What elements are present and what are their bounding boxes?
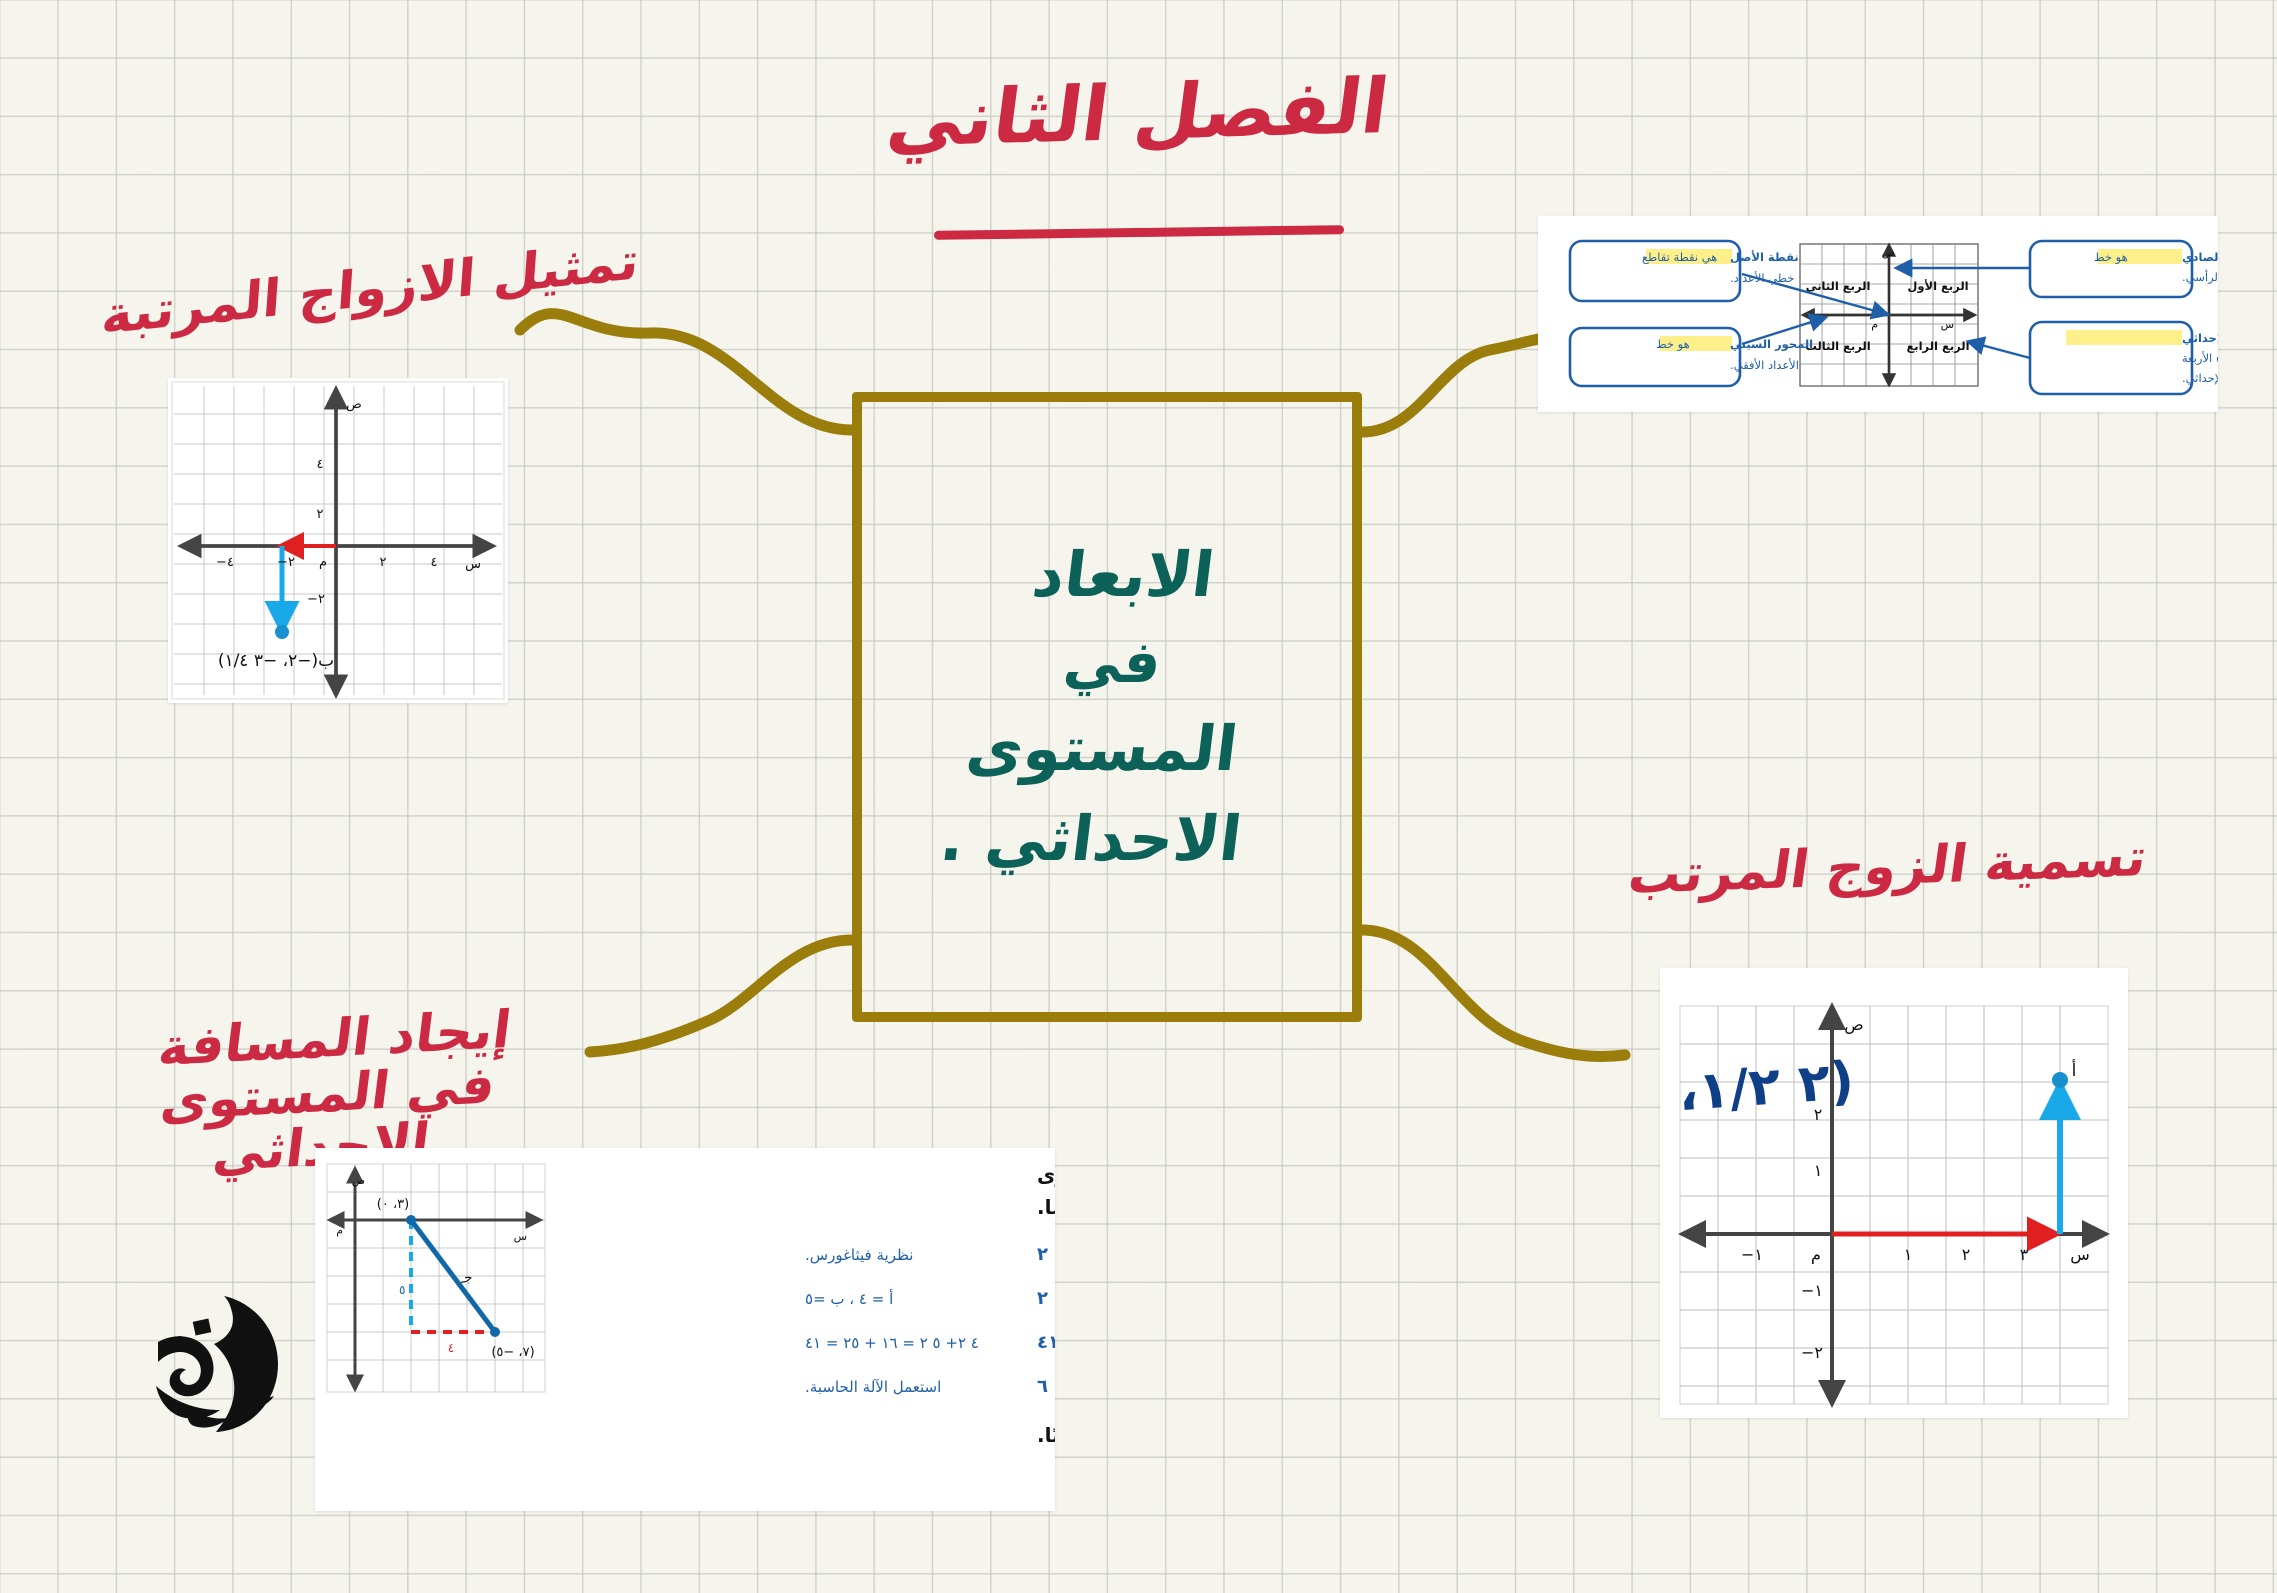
svg-text:١: ١ — [1814, 1161, 1823, 1180]
distance-graph-hypotenuse: جـ — [459, 1270, 474, 1287]
distance-graph-axis-x: س — [514, 1230, 527, 1243]
svg-text:هو خط: هو خط — [2094, 250, 2128, 265]
page-title-wrapper: الفصل الثاني — [0, 68, 2277, 157]
page-title-underline — [933, 225, 1343, 240]
central-line-1: الابعاد — [968, 530, 1279, 620]
distance-step-4-reason: استعمل الآلة الحاسبة. — [805, 1378, 941, 1396]
svg-text:هي الأجزاء الأربعة: هي الأجزاء الأربعة — [2182, 351, 2218, 366]
svg-text:١: ١ — [1904, 1245, 1913, 1264]
graph-name-ordered-pair: ١− ١ ٢ ٣ م ٢ ١ ١− ٢− ص س أ (٢ ١/٢، ٢) — [1660, 968, 2128, 1418]
svg-text:٢−: ٢− — [307, 592, 325, 607]
panel-name-ordered-pair: ١− ١ ٢ ٣ م ٢ ١ ١− ٢− ص س أ (٢ ١/٢، ٢) — [1660, 968, 2128, 1418]
quadrant-axis-y-label: ص — [1882, 246, 1895, 259]
plot-point-label: ب(−٢، −٣ ١/٤) — [218, 651, 334, 671]
diagram-quadrants: ص س م الربع الأول الربع الثاني الربع الث… — [1538, 216, 2218, 412]
branch-label-name-ordered-pair: تسمية الزوج المرتب — [1625, 831, 2150, 904]
naming-point-name: أ — [2072, 1059, 2077, 1081]
panel-coordinate-plane-parts: ص س م الربع الأول الربع الثاني الربع الث… — [1538, 216, 2218, 412]
svg-text:ص: ص — [346, 397, 362, 412]
distance-step-1-equation: جـ ٢ = أ ٢ + ب ٢ — [1037, 1242, 1055, 1265]
svg-text:س: س — [465, 557, 481, 572]
panel-distance-example: (٣، ٠) (٧، −٥) م س ص ٥ ٤ جـ مثّل الزوجين… — [315, 1148, 1055, 1511]
distance-step-3-reason: ٤ ٢+ ٥ ٢ = ١٦ + ٢٥ = ٤١ — [805, 1334, 979, 1352]
svg-text:الأعداد الرأسي.: الأعداد الرأسي. — [2182, 269, 2218, 285]
distance-step-4-equation: جـ ≈ ±٤ , ٦ — [1037, 1376, 1055, 1397]
svg-text:هي نقطة تقاطع: هي نقطة تقاطع — [1642, 250, 1717, 264]
distance-problem-line1: مثّل الزوجين المرتبين (٣،٠)، (٧،−٥) في ا… — [1037, 1163, 1055, 1188]
svg-text:م: م — [319, 555, 327, 570]
panel-plot-ordered-pair: ٤− ٢− ٢ ٤ م ٤ ٢ ٢− س ص ب(−٢، −٣ ١/٤) — [168, 378, 508, 703]
quadrant-label-q4: الربع الرابع — [1906, 339, 1969, 353]
distance-step-1-reason: نظرية فيثاغورس. — [805, 1246, 913, 1264]
svg-text:١−: ١− — [1741, 1245, 1763, 1264]
svg-text:١−: ١− — [1801, 1281, 1823, 1300]
quadrant-origin-label: م — [1871, 318, 1878, 331]
quadrant-label-q1: الربع الأول — [1907, 279, 1968, 294]
svg-text:٢−: ٢− — [1801, 1343, 1823, 1362]
branch-label-plot-ordered-pairs: تمثيل الازواج المرتبة — [100, 234, 641, 344]
distance-step-2-equation: جـ ٢ = ٤ ٢ + ٥ ٢ — [1037, 1288, 1055, 1309]
svg-text:٤−: ٤− — [216, 555, 234, 570]
distance-step-3-equation: جـ ٢ = ٤١ — [1037, 1332, 1055, 1353]
distance-graph-origin: م — [336, 1224, 343, 1237]
distance-graph-axis-y: ص — [352, 1174, 365, 1187]
distance-step-2-reason: أ = ٤ ، ب =٥ — [805, 1289, 893, 1308]
svg-text:٤: ٤ — [431, 555, 438, 570]
naming-axis-y-label: ص — [1844, 1015, 1863, 1035]
distance-conclusion: فتكون المسافة بين النقطتين ٤ , ٦ وحدات ت… — [1037, 1423, 1055, 1447]
central-line-2: في — [957, 620, 1268, 704]
central-line-3: المستوى — [946, 704, 1257, 794]
svg-text:للمستوى الإحداثي.: للمستوى الإحداثي. — [2182, 371, 2218, 386]
svg-text:٢: ٢ — [1962, 1245, 1971, 1264]
svg-text:خطي الأعداد.: خطي الأعداد. — [1730, 271, 1794, 285]
calligraphy-logo-icon — [128, 1282, 298, 1442]
naming-origin-label: م — [1811, 1245, 1821, 1264]
distance-example-content: (٣، ٠) (٧، −٥) م س ص ٥ ٤ جـ مثّل الزوجين… — [315, 1148, 1055, 1511]
quadrant-label-q2: الربع الثاني — [1806, 279, 1871, 293]
page-title: الفصل الثاني — [883, 61, 1395, 164]
quadrant-axis-x-label: س — [1941, 318, 1954, 331]
callout-origin-highlight: نقطة الأصل — [1730, 250, 1799, 264]
central-concept-text: الابعاد في المستوى الاحداثي . — [935, 530, 1279, 884]
central-concept-box: الابعاد في المستوى الاحداثي . — [852, 392, 1362, 1022]
graph-plot-ordered-pair: ٤− ٢− ٢ ٤ م ٤ ٢ ٢− س ص ب(−٢، −٣ ١/٤) — [168, 378, 508, 703]
distance-graph-point-a: (٣، ٠) — [377, 1197, 409, 1212]
distance-example-graph: (٣، ٠) (٧، −٥) م س ص ٥ ٤ جـ — [327, 1164, 545, 1392]
distance-graph-leg-vertical: ٥ — [399, 1283, 405, 1297]
naming-axis-x-label: س — [2070, 1245, 2090, 1264]
svg-text:هو خط: هو خط — [1656, 337, 1690, 352]
svg-text:٤: ٤ — [317, 457, 324, 472]
callout-y-axis-highlight: المحور الصادي — [2182, 250, 2218, 265]
branch-label-find-distance-line1: إيجاد المسافة في المستوى — [103, 1001, 560, 1133]
svg-text:الأعداد الأفقي.: الأعداد الأفقي. — [1730, 358, 1799, 372]
distance-graph-point-b: (٧، −٥) — [491, 1345, 534, 1360]
svg-text:٣: ٣ — [2020, 1245, 2029, 1264]
distance-graph-leg-horizontal: ٤ — [448, 1341, 454, 1355]
callout-quadrants-highlight: أرباع المستوى الإحداثي — [2182, 330, 2218, 346]
svg-text:٢−: ٢− — [277, 555, 295, 570]
svg-text:٢: ٢ — [380, 555, 387, 570]
svg-text:٢: ٢ — [317, 507, 324, 522]
distance-problem-line2: الإحداثي ثم أوجد المسافة جـ بينهما. — [1037, 1193, 1055, 1220]
book-logo — [128, 1282, 298, 1442]
quadrant-label-q3: الربع الثالث — [1805, 339, 1870, 353]
central-line-4: الاحداثي . — [935, 794, 1246, 884]
